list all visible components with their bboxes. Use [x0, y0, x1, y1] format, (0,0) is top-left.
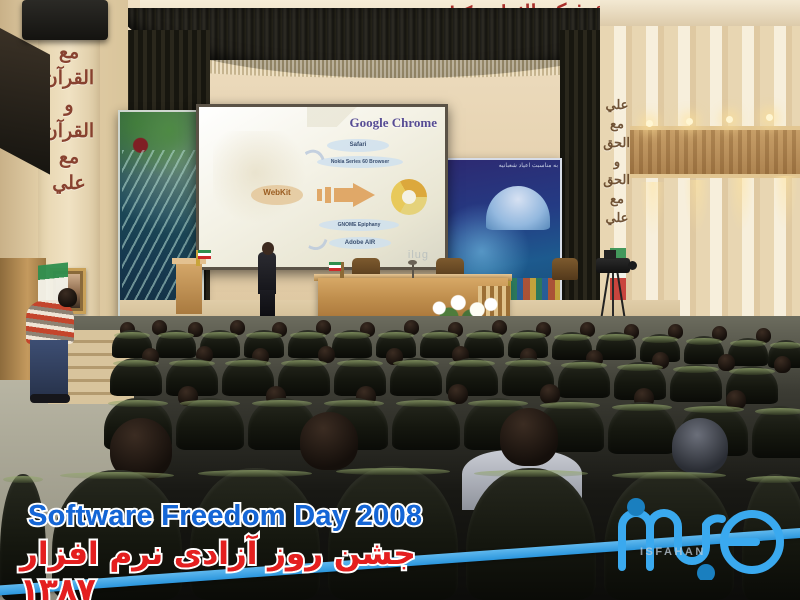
auditorium-seat [110, 358, 162, 396]
auditorium-seat [332, 330, 372, 358]
logo-dot-top [627, 498, 645, 516]
event-title-fa: جشن روز آزادی نرم افزار ۱۳۸۷ [20, 536, 440, 600]
auditorium-seat [278, 358, 330, 396]
iran-flag-icon [198, 250, 211, 259]
audience-head [774, 356, 791, 373]
downlight-glow [684, 180, 710, 234]
slide-node-webkit-label: WebKit [251, 188, 303, 197]
presenter-legs [260, 290, 275, 318]
slide-title: Google Chrome [350, 115, 438, 131]
downlight-icon [766, 114, 773, 121]
slide-node-nokia-label: Nokia Series 60 Browser [317, 159, 403, 165]
event-photo: تارك فيكم الثقلين كتاب علي مع القرآن و ا… [0, 0, 800, 600]
downlight-glow [772, 176, 798, 230]
presenter-head [262, 242, 274, 255]
video-camera-icon [596, 258, 630, 273]
isfahan-lug-logo [610, 485, 790, 580]
projection-screen: Google Chrome Safari Nokia Series 60 Bro… [199, 107, 445, 267]
audience-head-foreground [300, 412, 358, 470]
slide-arrow-icon [317, 183, 375, 207]
auditorium-seat [464, 330, 504, 358]
downlight-icon [726, 116, 733, 123]
downlight-glow [728, 178, 754, 232]
microphone-stem [412, 264, 414, 278]
chrome-icon-hub [402, 190, 416, 204]
loudspeaker-icon [22, 0, 108, 40]
standing-person-head [58, 288, 77, 307]
downlight-icon [646, 120, 653, 127]
auditorium-seat [558, 360, 610, 398]
slide-node-safari-label: Safari [327, 142, 389, 148]
video-camera-top [604, 250, 616, 259]
camera-lens-icon [628, 261, 637, 270]
auditorium-seat [670, 364, 722, 402]
stage-chair [552, 258, 578, 280]
auditorium-seat [390, 358, 442, 396]
presenter-body [258, 252, 276, 294]
podium [176, 262, 202, 314]
standing-person-legs [30, 340, 68, 398]
tripod-leg [612, 272, 614, 316]
downlight-glow [640, 182, 666, 236]
audience-head-foreground [672, 418, 728, 474]
standing-person-shoes [30, 394, 70, 403]
carved-calligraphy-frieze [630, 126, 800, 178]
microphone-icon [408, 260, 417, 265]
downlight-icon [686, 118, 693, 125]
slide-node-adobeair-label: Adobe AIR [329, 240, 391, 246]
logo-dot-bottom [697, 564, 715, 580]
logo-city-label: ISFAHAN [640, 546, 706, 558]
iran-flag-icon [329, 262, 341, 271]
right-banner-text: به مناسبت اعیاد شعبانیه [452, 162, 558, 169]
right-wall-soffit [600, 0, 800, 26]
slide-node-epiphany-label: GNOME Epiphany [319, 222, 399, 228]
audience-head-foreground [500, 408, 558, 466]
auditorium-seat [156, 330, 196, 358]
event-title-en: Software Freedom Day 2008 [28, 500, 422, 533]
